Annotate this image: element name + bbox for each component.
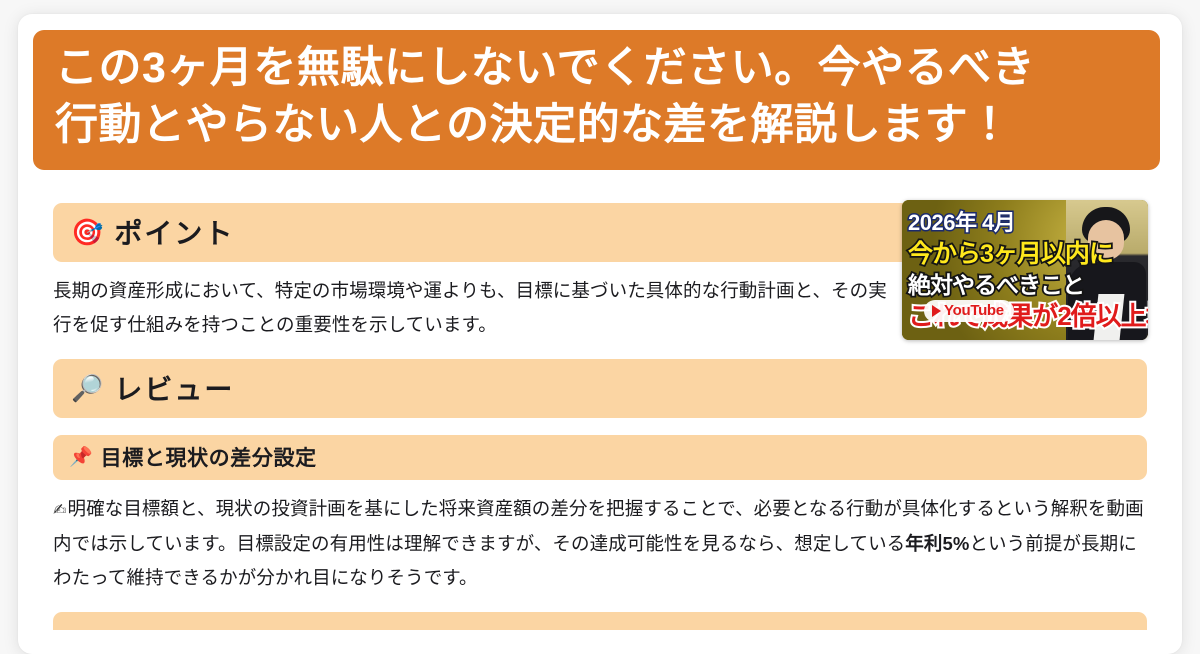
magnifier-icon: 🔎 bbox=[71, 375, 103, 401]
point-paragraph: 長期の資産形成において、特定の市場環境や運よりも、目標に基づいた具体的な行動計画… bbox=[53, 274, 898, 342]
thumbnail-line-3: 絶対やるべきこと bbox=[908, 266, 1084, 300]
pushpin-icon: 📌 bbox=[69, 448, 93, 467]
section-label-review: レビュー bbox=[114, 368, 234, 408]
section-header-review[interactable]: 🔎 レビュー bbox=[53, 359, 1147, 418]
goal-gap-paragraph-emphasis: 年利5% bbox=[905, 533, 969, 554]
thumbnail-line-1: 2026年 4月 bbox=[908, 205, 1015, 237]
next-section-header-partial[interactable] bbox=[53, 612, 1147, 630]
page-root: この3ヶ月を無駄にしないでください。今やるべき 行動とやらない人との決定的な差を… bbox=[0, 0, 1200, 630]
page-title-banner: この3ヶ月を無駄にしないでください。今やるべき 行動とやらない人との決定的な差を… bbox=[33, 30, 1160, 170]
youtube-badge[interactable]: YouTube bbox=[924, 300, 1014, 322]
subsection-label-goal-gap: 目標と現状の差分設定 bbox=[101, 442, 317, 472]
target-icon: 🎯 bbox=[71, 219, 103, 245]
youtube-video-thumbnail[interactable]: 2026年 4月 今から3ヶ月以内に 絶対やるべきこと これで成果が2倍以上増え… bbox=[902, 200, 1148, 340]
play-triangle-icon bbox=[932, 305, 941, 317]
page-title: この3ヶ月を無駄にしないでください。今やるべき 行動とやらない人との決定的な差を… bbox=[55, 40, 1138, 154]
section-label-point: ポイント bbox=[114, 212, 234, 252]
writing-hand-icon: ✍ bbox=[53, 502, 67, 519]
thumbnail-line-2: 今から3ヶ月以内に bbox=[908, 234, 1113, 270]
subsection-header-goal-gap[interactable]: 📌 目標と現状の差分設定 bbox=[53, 435, 1147, 480]
youtube-badge-label: YouTube bbox=[944, 302, 1004, 319]
goal-gap-paragraph: ✍明確な目標額と、現状の投資計画を基にした将来資産額の差分を把握することで、必要… bbox=[53, 492, 1147, 595]
